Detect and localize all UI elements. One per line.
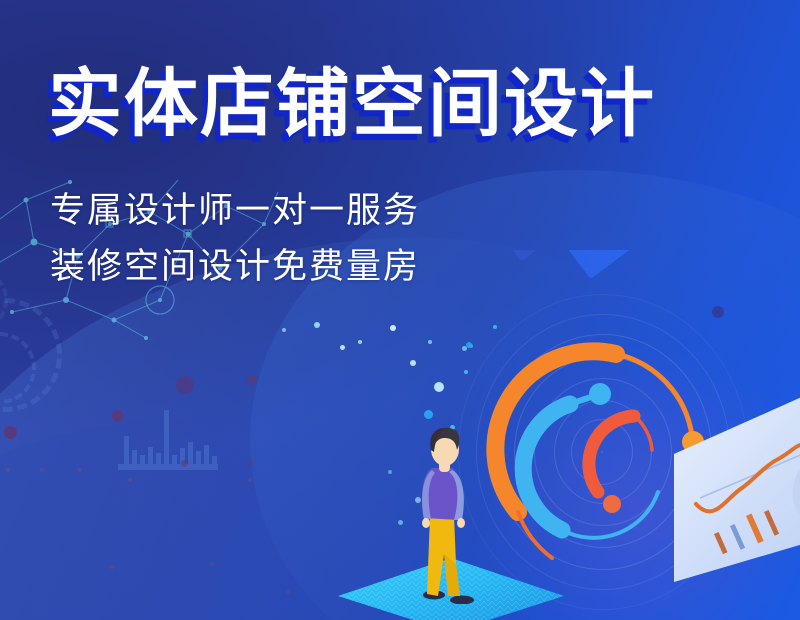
ghost-chart-baseline [118, 464, 218, 470]
muted-dot [6, 468, 10, 472]
subtitle-line-1: 专属设计师一对一服务 [50, 182, 420, 233]
muted-dot [128, 478, 132, 482]
person-figure [404, 424, 496, 604]
hand-right [457, 518, 465, 528]
muted-dot [247, 460, 253, 466]
muted-dot [78, 468, 82, 472]
dashboard-screen [660, 338, 800, 588]
muted-dot [110, 565, 114, 569]
muted-dot [247, 375, 257, 385]
ghost-bar-chart [118, 408, 218, 470]
muted-dot [40, 468, 44, 472]
muted-dot [112, 410, 124, 422]
promo-banner: 实体店铺空间设计 专属设计师一对一服务 装修空间设计免费量房 [0, 0, 800, 620]
muted-dot [286, 590, 290, 594]
accent-dot [314, 322, 320, 328]
subtitle-line-2: 装修空间设计免费量房 [50, 238, 420, 289]
stripe-deep-2 [646, 250, 800, 252]
stripe-blue [546, 250, 800, 279]
page-title: 实体店铺空间设计 [48, 44, 656, 151]
muted-dot [210, 562, 214, 566]
muted-dot [181, 460, 188, 467]
hand-left [422, 518, 430, 528]
muted-dot [4, 426, 17, 439]
accent-dot [282, 328, 286, 332]
shoe-right [450, 596, 474, 605]
muted-dot [176, 376, 194, 394]
muted-dot [248, 478, 252, 482]
stripe-deep [490, 250, 800, 262]
screen-surface [674, 354, 800, 582]
